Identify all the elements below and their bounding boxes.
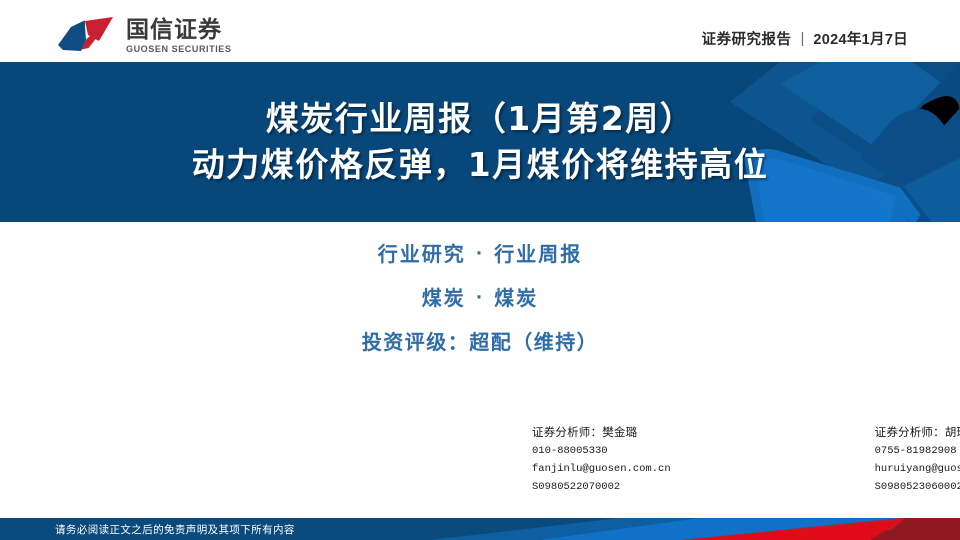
- meta-industry-category: 行业研究: [378, 242, 466, 266]
- header-meta: 证券研究报告 | 2024年1月7日: [702, 28, 909, 49]
- analyst-phone: 010-88005330: [532, 443, 671, 460]
- meta-dot-2: ·: [466, 288, 494, 308]
- hero-title-line-2: 动力煤价格反弹，1月煤价将维持高位: [192, 144, 768, 186]
- logo-text-en: GUOSEN SECURITIES: [126, 44, 231, 55]
- investment-rating: 投资评级：超配（维持）: [362, 326, 599, 355]
- footer-disclaimer: 请务必阅读正文之后的免责声明及其项下所有内容: [55, 518, 295, 540]
- analyst-name: 证券分析师：樊金璐: [532, 424, 671, 442]
- analyst-card: 证券分析师：胡瑞阳 0755-81982908 huruiyang@guosen…: [875, 424, 960, 496]
- report-type-label: 证券研究报告: [702, 28, 792, 49]
- meta-sector-secondary: 煤炭: [494, 286, 538, 310]
- analyst-phone: 0755-81982908: [875, 443, 960, 460]
- meta-dot-1: ·: [466, 244, 494, 264]
- page-header: 国信证券 GUOSEN SECURITIES 证券研究报告 | 2024年1月7…: [0, 0, 960, 62]
- meta-industry-type: 行业周报: [494, 242, 582, 266]
- page-footer: 请务必阅读正文之后的免责声明及其项下所有内容: [0, 518, 960, 540]
- analyst-license: S0980523060002: [875, 479, 960, 496]
- header-separator: |: [801, 30, 805, 47]
- analyst-name: 证券分析师：胡瑞阳: [875, 424, 960, 442]
- meta-sector-primary: 煤炭: [422, 286, 466, 310]
- hero-banner: 煤炭行业周报（1月第2周） 动力煤价格反弹，1月煤价将维持高位: [0, 62, 960, 222]
- meta-line-sector: 煤炭·煤炭: [422, 282, 538, 311]
- logo-text-cn: 国信证券: [126, 18, 237, 42]
- hero-title-line-1: 煤炭行业周报（1月第2周）: [266, 98, 694, 140]
- analyst-license: S0980522070002: [532, 479, 671, 496]
- hero-title-group: 煤炭行业周报（1月第2周） 动力煤价格反弹，1月煤价将维持高位: [0, 62, 960, 222]
- analyst-card: 证券分析师：樊金璐 010-88005330 fanjinlu@guosen.c…: [532, 424, 671, 496]
- report-meta-group: 行业研究·行业周报 煤炭·煤炭 投资评级：超配（维持）: [0, 238, 960, 355]
- analyst-contacts: 证券分析师：樊金璐 010-88005330 fanjinlu@guosen.c…: [0, 424, 960, 496]
- logo-wordmark: 国信证券 GUOSEN SECURITIES: [126, 17, 237, 56]
- guosen-logo-icon: [55, 15, 117, 57]
- report-date: 2024年1月7日: [813, 28, 908, 49]
- meta-line-industry: 行业研究·行业周报: [378, 238, 582, 267]
- brand-logo: 国信证券 GUOSEN SECURITIES: [55, 15, 237, 57]
- analyst-email[interactable]: fanjinlu@guosen.com.cn: [532, 461, 671, 478]
- analyst-email[interactable]: huruiyang@guosen.com.cn: [875, 461, 960, 478]
